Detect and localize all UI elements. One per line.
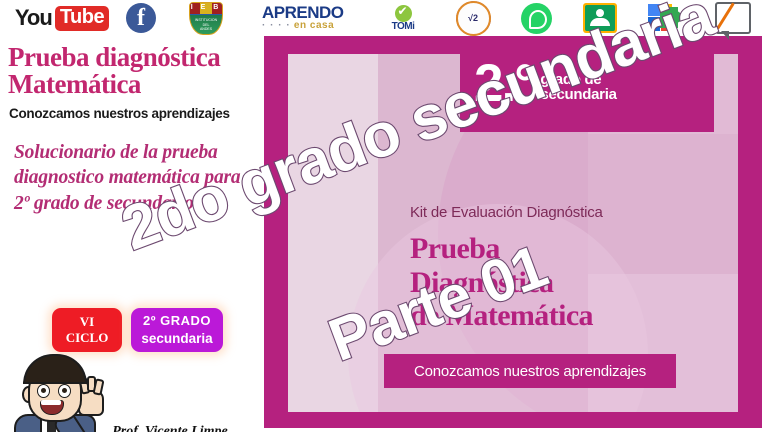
aprendo-line2: · · · · en casa	[262, 21, 334, 31]
cover-kit-label: Kit de Evaluación Diagnóstica	[410, 204, 710, 221]
aprendo-en-casa-logo: APRENDO · · · · en casa	[262, 2, 358, 34]
aprendo-line1: APRENDO	[262, 5, 344, 21]
badge-ciclo-line2: CICLO	[52, 330, 122, 346]
status-badge-ciclo: VI CICLO	[52, 308, 122, 352]
jamboard-icon[interactable]	[710, 2, 756, 34]
page-title: Prueba diagnóstica Matemática	[8, 44, 254, 98]
youtube-logo[interactable]: YouTube	[8, 2, 116, 34]
shield-subtext: INSTITUCIONDELANDES	[190, 18, 222, 31]
registro-maldonado-icon: √2	[448, 2, 498, 34]
status-badge-grado: 2º GRADO secundaria	[131, 308, 223, 352]
whatsapp-icon[interactable]	[516, 2, 556, 34]
tomi-check-icon	[395, 5, 412, 22]
tomi-label: TOMi	[392, 21, 415, 32]
tomi-logo: TOMi	[378, 2, 428, 34]
facebook-glyph: f	[126, 3, 156, 33]
maldonado-glyph: √2	[468, 14, 478, 23]
cover-ribbon: Conozcamos nuestros aprendizajes	[384, 354, 676, 388]
shield-letters: I E B	[190, 4, 222, 11]
badge-grado-line2: secundaria	[131, 330, 223, 348]
screenshot-root: YouTube f I E B INSTITUCIONDELANDES APRE…	[0, 0, 768, 432]
badge-grado-line1: 2º GRADO	[131, 313, 223, 330]
avatar	[6, 354, 110, 432]
facebook-icon[interactable]: f	[124, 2, 158, 34]
cover-ribbon-text: Conozcamos nuestros aprendizajes	[414, 363, 646, 380]
badge-group: VI CICLO 2º GRADO secundaria	[52, 308, 223, 352]
youtube-box: Tube	[55, 6, 109, 31]
youtube-word: You	[15, 5, 52, 31]
badge-ciclo-line1: VI	[52, 314, 122, 330]
school-shield-icon: I E B INSTITUCIONDELANDES	[186, 2, 226, 34]
professor-name: Prof. Vicente Limpe Cahuana	[84, 424, 256, 432]
page-subtitle: Conozcamos nuestros aprendizajes	[9, 106, 255, 121]
